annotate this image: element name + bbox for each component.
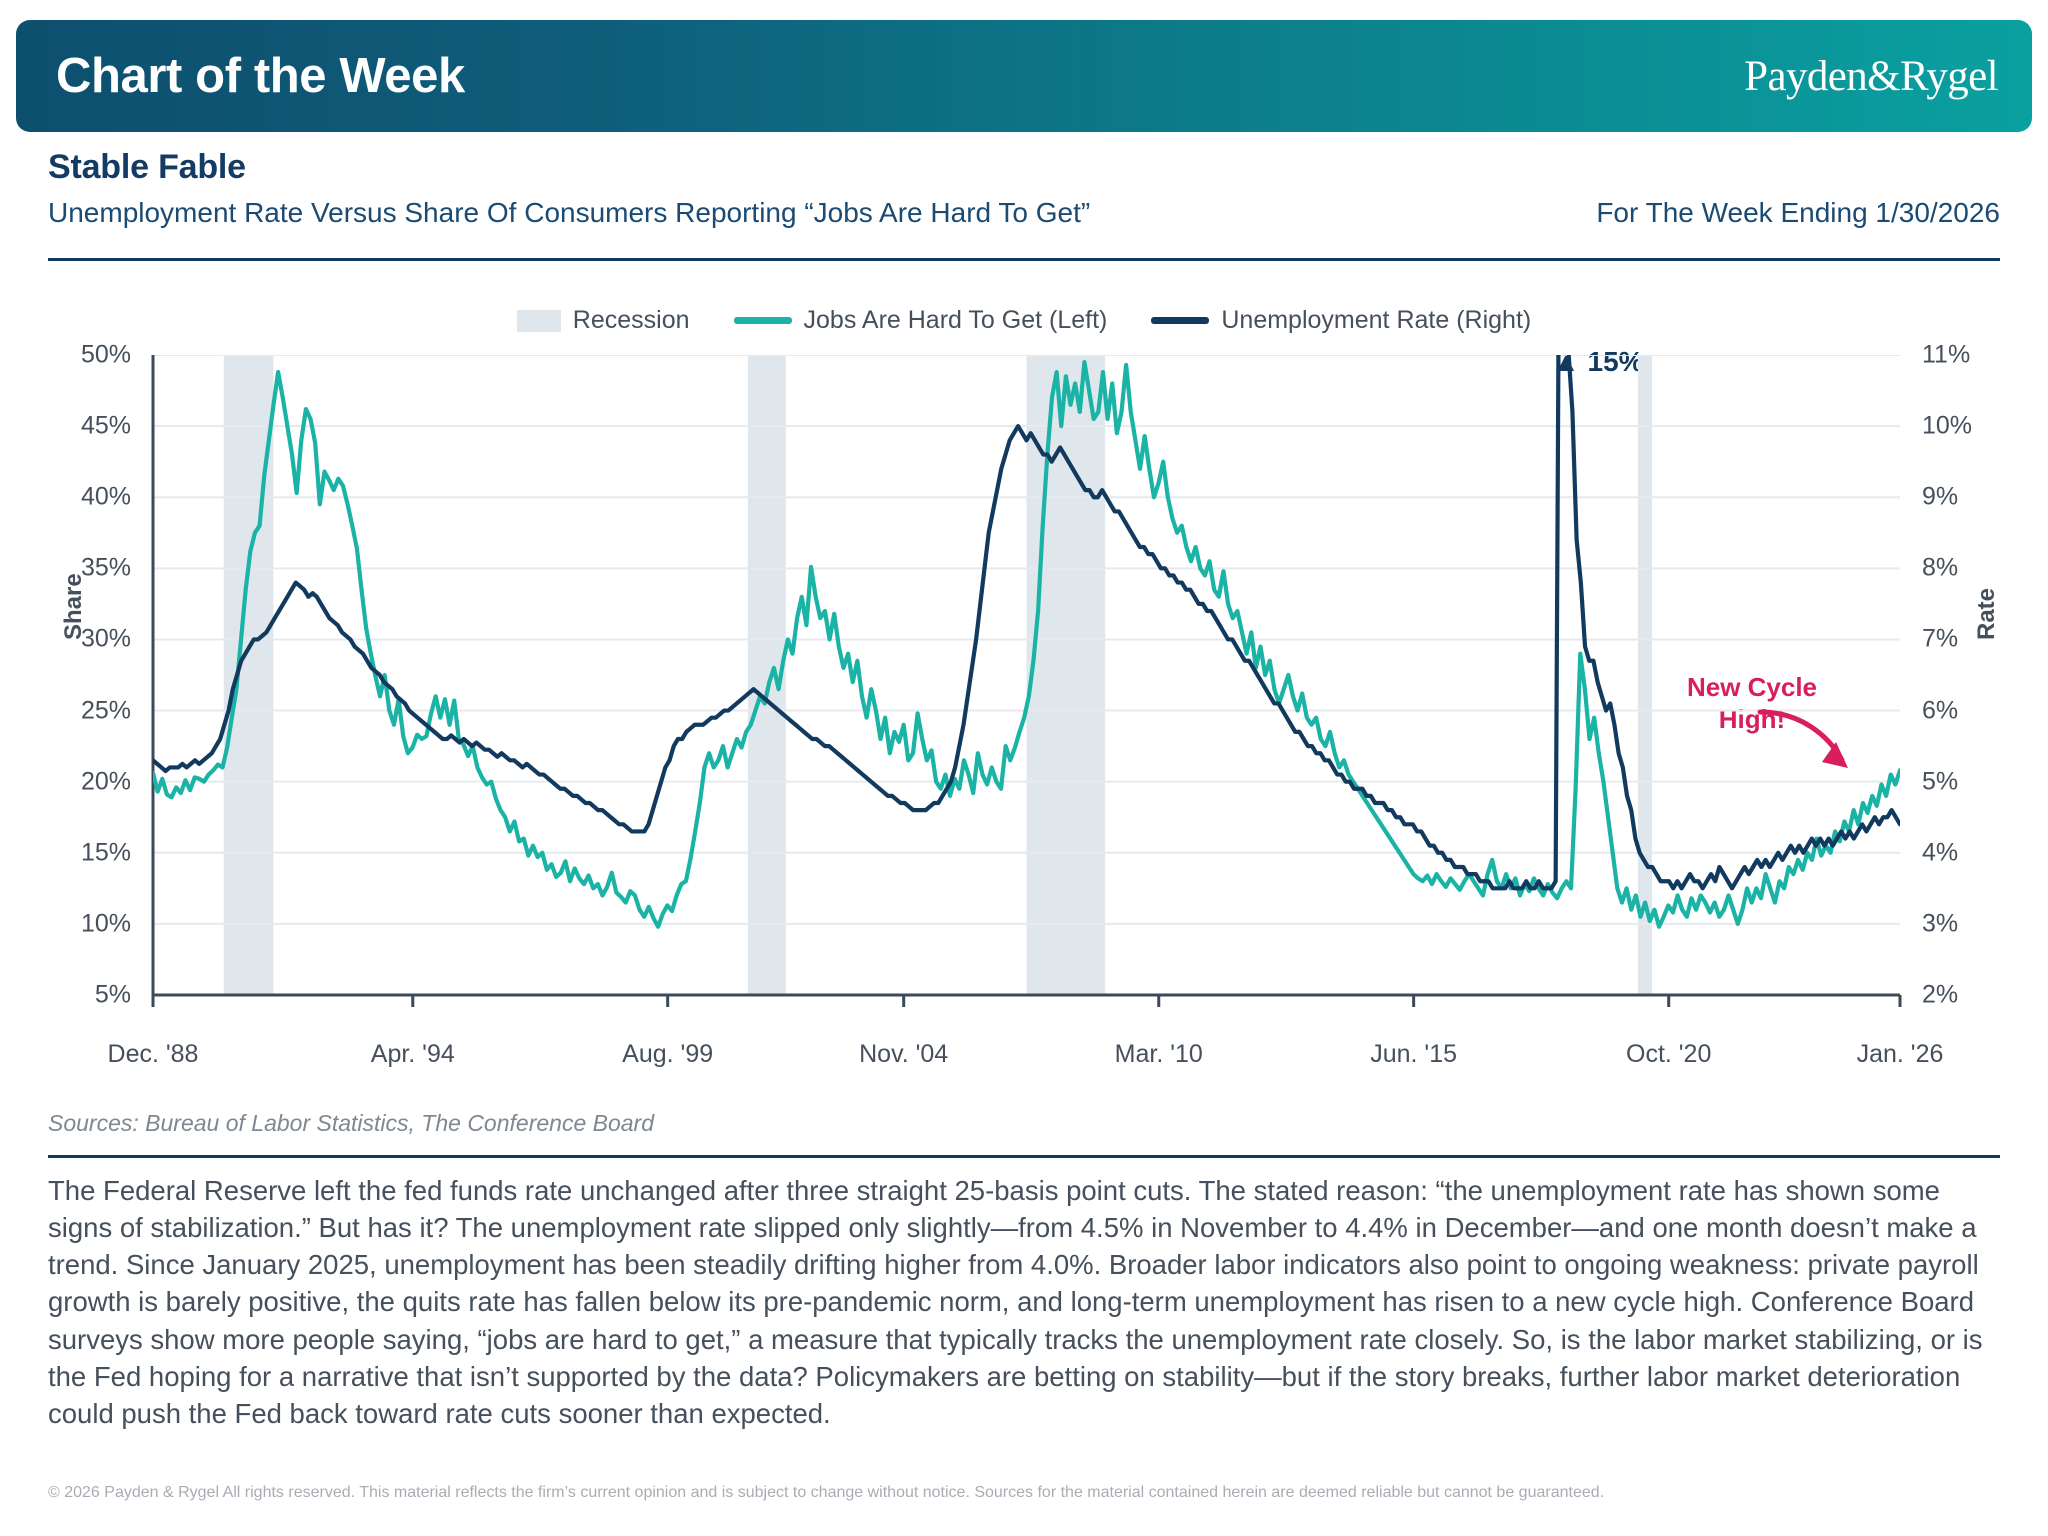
sources-note: Sources: Bureau of Labor Statistics, The… (48, 1110, 654, 1137)
recession-band-swatch-icon (517, 310, 561, 332)
legend-label-recession: Recession (573, 306, 690, 335)
header-banner: Chart of the Week Payden&Rygel (16, 20, 2032, 132)
legend-item-jobs-hard-to-get: Jobs Are Hard To Get (Left) (734, 306, 1108, 335)
legend-item-recession: Recession (517, 306, 690, 335)
x-axis-tick-label: Dec. '88 (108, 1040, 199, 1069)
legend-label-unemployment-rate: Unemployment Rate (Right) (1221, 306, 1531, 335)
copyright-note: © 2026 Payden & Rygel All rights reserve… (48, 1484, 2000, 1502)
x-axis-tick-label: Mar. '10 (1115, 1040, 1203, 1069)
title-block: Stable Fable Unemployment Rate Versus Sh… (48, 148, 2004, 229)
x-axis-tick-label: Jun. '15 (1370, 1040, 1457, 1069)
body-divider (48, 1155, 2000, 1158)
teal-line-swatch-icon (734, 317, 792, 324)
title-divider (48, 258, 2000, 261)
x-axis-tick-label: Apr. '94 (371, 1040, 455, 1069)
chart-legend: Recession Jobs Are Hard To Get (Left) Un… (48, 306, 2000, 335)
x-axis-tick-label: Jan. '26 (1857, 1040, 1944, 1069)
chart-plot (48, 355, 2000, 1015)
recession-band (1638, 355, 1652, 995)
subtitle-row: Unemployment Rate Versus Share Of Consum… (48, 197, 2000, 229)
legend-label-jobs-hard-to-get: Jobs Are Hard To Get (Left) (804, 306, 1108, 335)
week-ending-label: For The Week Ending 1/30/2026 (1596, 197, 2000, 229)
legend-item-unemployment-rate: Unemployment Rate (Right) (1151, 306, 1531, 335)
x-axis-tick-label: Oct. '20 (1626, 1040, 1711, 1069)
x-axis-tick-label: Nov. '04 (859, 1040, 948, 1069)
recession-band (1027, 355, 1106, 995)
body-paragraph: The Federal Reserve left the fed funds r… (48, 1172, 2004, 1432)
chart-of-the-week-page: Chart of the Week Payden&Rygel Stable Fa… (0, 0, 2048, 1536)
page-title: Stable Fable (48, 148, 2004, 187)
chart-subtitle: Unemployment Rate Versus Share Of Consum… (48, 197, 1090, 229)
navy-line-swatch-icon (1151, 317, 1209, 324)
x-axis-tick-label: Aug. '99 (622, 1040, 713, 1069)
brand-logo: Payden&Rygel (1744, 52, 1998, 101)
banner-title: Chart of the Week (56, 48, 465, 104)
